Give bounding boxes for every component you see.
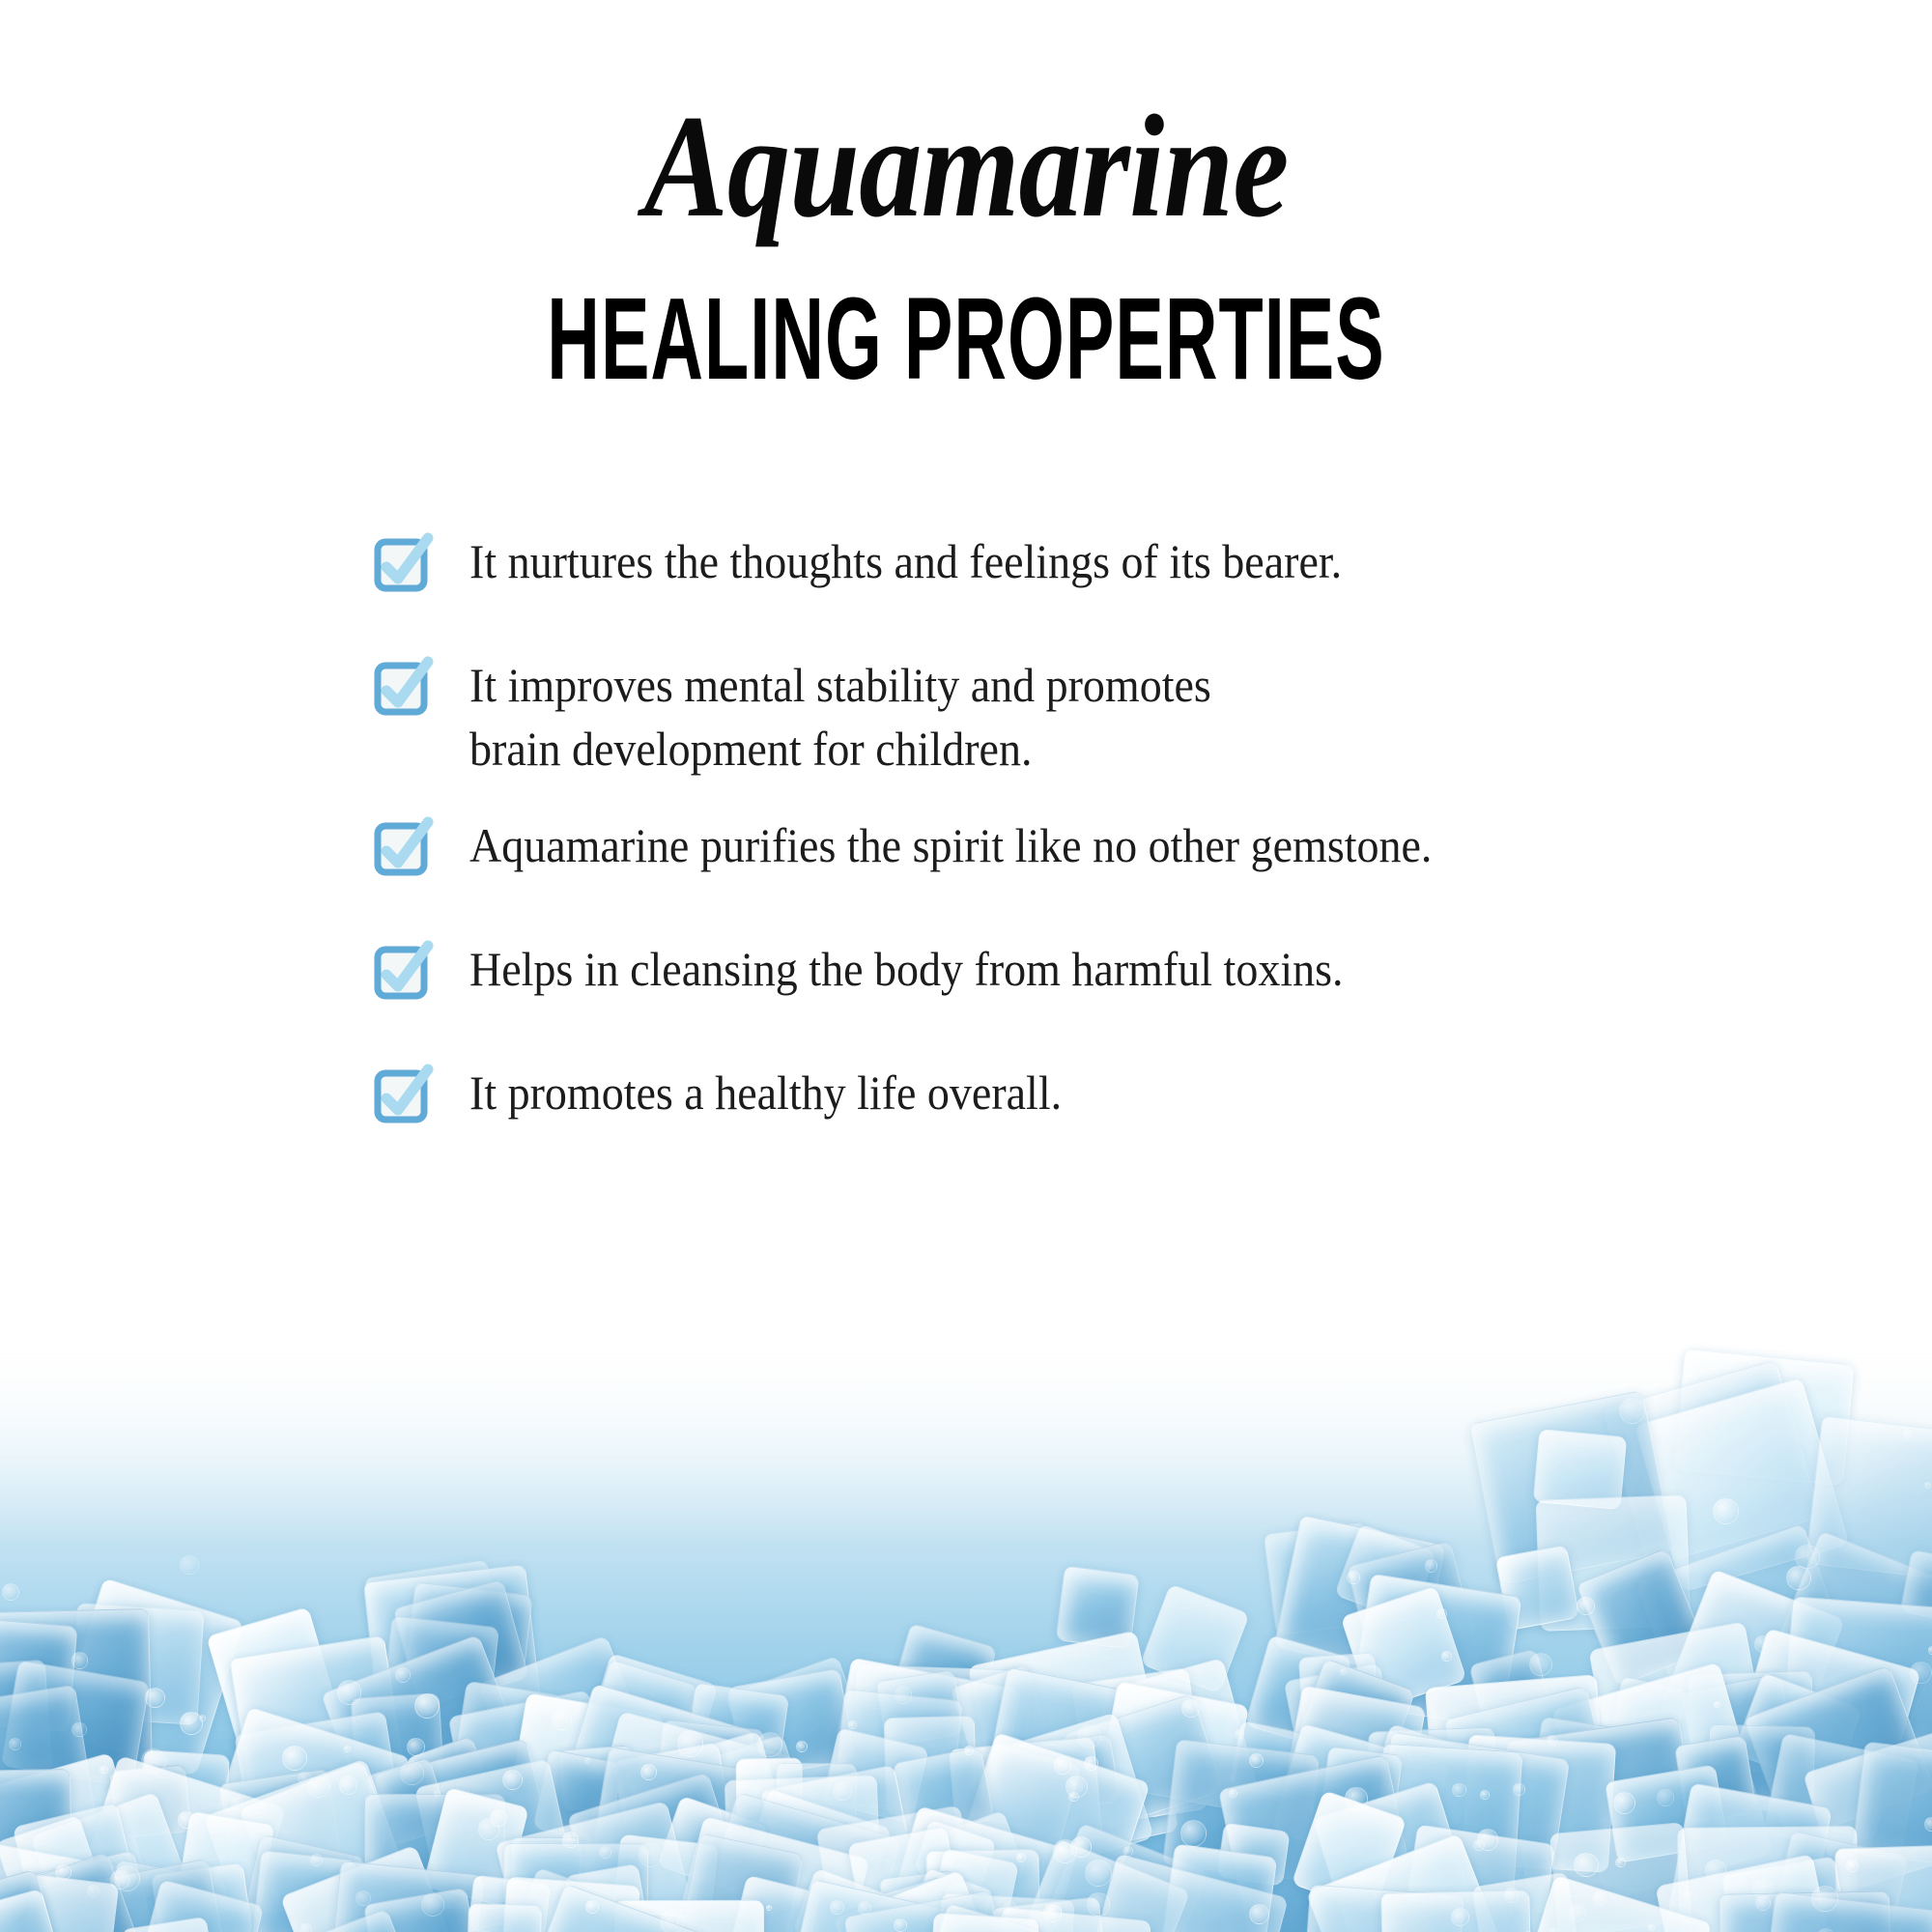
ice-cubes-image [0,1236,1932,1932]
page-title: Aquamarine [135,93,1797,240]
ice-bubble [562,1832,579,1848]
ice-bubble [1593,1891,1606,1905]
ice-bubble [1085,1860,1112,1887]
ice-bubble [1705,1860,1726,1881]
healing-properties-list: It nurtures the thoughts and feelings of… [375,529,1747,1124]
ice-bubble [1910,1662,1932,1684]
list-item: It promotes a healthy life overall. [375,1061,1747,1124]
ice-bubble [55,1864,71,1880]
ice-bubble [421,1893,444,1917]
ice-bubble [1229,1789,1237,1798]
ice-bubble [344,1746,351,1752]
ice-bubble [1452,1783,1465,1797]
ice-bubble [1087,1892,1111,1917]
checkbox-checked-icon [375,819,431,875]
ice-bubble [1029,1909,1055,1932]
list-item-label: It promotes a healthy life overall. [469,1061,1062,1124]
page-subtitle: HEALING PROPERTIES [290,280,1642,397]
ice-bubble [1928,1646,1932,1654]
ice-bubble [1513,1783,1524,1795]
ice-bubble [796,1741,808,1752]
ice-bubble [964,1746,974,1755]
ice-bubble [1786,1566,1811,1591]
list-item: Helps in cleansing the body from harmful… [375,937,1747,1001]
list-item-label: It improves mental stability and promote… [469,653,1211,781]
ice-bubble [1924,1817,1932,1832]
list-item-label: It nurtures the thoughts and feelings of… [469,529,1342,593]
ice-bubble [757,1732,782,1757]
ice-bubble [1425,1559,1437,1572]
ice-bubble [2,1583,19,1601]
ice-bubble [1657,1789,1674,1806]
ice-bubble [414,1693,440,1719]
ice-bubble [1754,1635,1772,1653]
list-item: It nurtures the thoughts and feelings of… [375,529,1747,593]
ice-bubble [1480,1790,1489,1799]
ice-bubble [1249,1753,1264,1768]
ice-bubble [639,1843,663,1867]
ice-bubble [1648,1924,1655,1931]
ice-bubble [585,1900,599,1914]
poster-header: Aquamarine HEALING PROPERTIES [0,0,1932,384]
ice-bubble [552,1709,573,1730]
ice-bubble [1123,1846,1133,1856]
ice-bubble [9,1738,21,1750]
ice-bubble [1016,1853,1026,1862]
ice-bubble [1054,1756,1072,1775]
ice-bubble [1903,1430,1912,1438]
checkbox-checked-icon [375,943,431,999]
ice-bubble [145,1688,165,1708]
ice-bubble [946,1883,971,1908]
ice-bubble [307,1776,328,1798]
ice-bubble [490,1809,507,1827]
list-item: It improves mental stability and promote… [375,653,1747,781]
ice-bubble [337,1680,361,1704]
ice-bubble [1451,1908,1469,1926]
ice-bubble [99,1766,108,1775]
ice-bubble [1180,1820,1207,1847]
ice-bubble [1529,1653,1552,1676]
ice-bubble [502,1770,523,1790]
ice-bubble [434,1790,440,1797]
ice-bubble [1347,1571,1360,1584]
list-item: Aquamarine purifies the spirit like no o… [375,813,1747,877]
poster: Aquamarine HEALING PROPERTIES It nurture… [0,0,1932,1932]
ice-bubble [71,1722,87,1738]
ice-bubble [300,1923,312,1932]
ice-bubble [894,1918,907,1932]
ice-bubble [71,1652,88,1668]
ice-bubble [114,1865,140,1891]
ice-bubble [1504,1888,1519,1902]
ice-cube [467,1903,541,1932]
checkbox-checked-icon [375,535,431,591]
ice-bubble [1340,1668,1347,1675]
ice-cube-cluster [0,1236,1932,1932]
ice-bubble [677,1730,703,1756]
ice-bubble [400,1761,424,1785]
checkbox-checked-icon [375,1066,431,1122]
ice-bubble [1574,1853,1599,1878]
ice-bubble [1683,1889,1696,1903]
ice-bubble [584,1757,591,1764]
ice-bubble [355,1890,371,1906]
list-item-label: Aquamarine purifies the spirit like no o… [469,813,1432,877]
ice-bubble [1068,1792,1078,1802]
checkbox-checked-icon [375,659,431,715]
ice-bubble [231,1797,244,1810]
ice-bubble [1569,1904,1586,1921]
list-item-label: Helps in cleansing the body from harmful… [469,937,1344,1001]
ice-bubble [180,1555,199,1575]
ice-bubble [1615,1858,1625,1867]
ice-bubble [87,1885,99,1897]
ice-bubble [1846,1860,1859,1872]
ice-bubble [1811,1886,1838,1913]
ice-bubble [833,1781,852,1801]
ice-bubble [1181,1699,1200,1718]
ice-bubble [1345,1787,1367,1809]
ice-bubble [660,1910,684,1932]
ice-bubble [339,1776,357,1794]
ice-bubble [1441,1651,1452,1662]
